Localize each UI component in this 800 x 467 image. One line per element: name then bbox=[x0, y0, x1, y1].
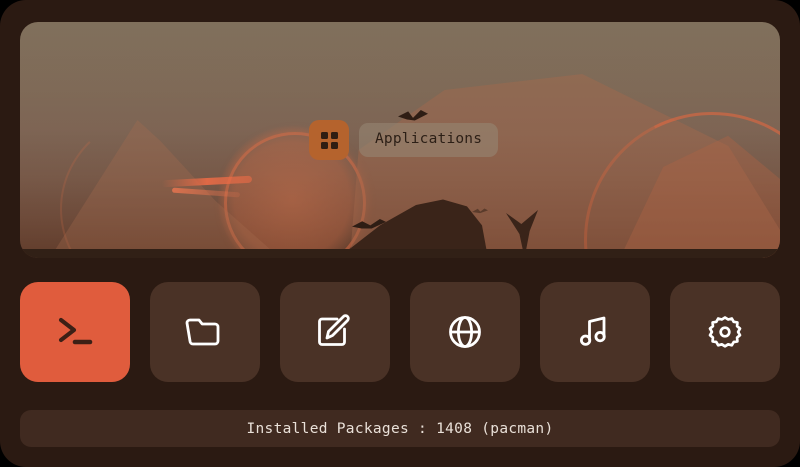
music-note-icon bbox=[574, 311, 616, 353]
folder-icon bbox=[182, 312, 228, 352]
applications-label[interactable]: Applications bbox=[359, 123, 498, 157]
grid-2x2-icon bbox=[321, 132, 338, 149]
globe-icon bbox=[444, 311, 486, 353]
applications-grid-button[interactable] bbox=[309, 120, 349, 160]
installed-packages-text: Installed Packages : 1408 (pacman) bbox=[246, 421, 553, 437]
dock-tile-music[interactable] bbox=[540, 282, 650, 382]
edit-square-icon bbox=[313, 311, 357, 353]
applications-launcher[interactable]: Applications bbox=[309, 120, 498, 160]
dock-row bbox=[20, 282, 780, 382]
ground-strip bbox=[20, 249, 780, 258]
dock-tile-settings[interactable] bbox=[670, 282, 780, 382]
status-bar: Installed Packages : 1408 (pacman) bbox=[20, 410, 780, 447]
dock-tile-terminal[interactable] bbox=[20, 282, 130, 382]
dock-tile-files[interactable] bbox=[150, 282, 260, 382]
dock-tile-web-browser[interactable] bbox=[410, 282, 520, 382]
dock-tile-text-editor[interactable] bbox=[280, 282, 390, 382]
desktop-window: Applications bbox=[0, 0, 800, 467]
gear-icon bbox=[704, 311, 746, 353]
terminal-prompt-icon bbox=[53, 312, 97, 352]
